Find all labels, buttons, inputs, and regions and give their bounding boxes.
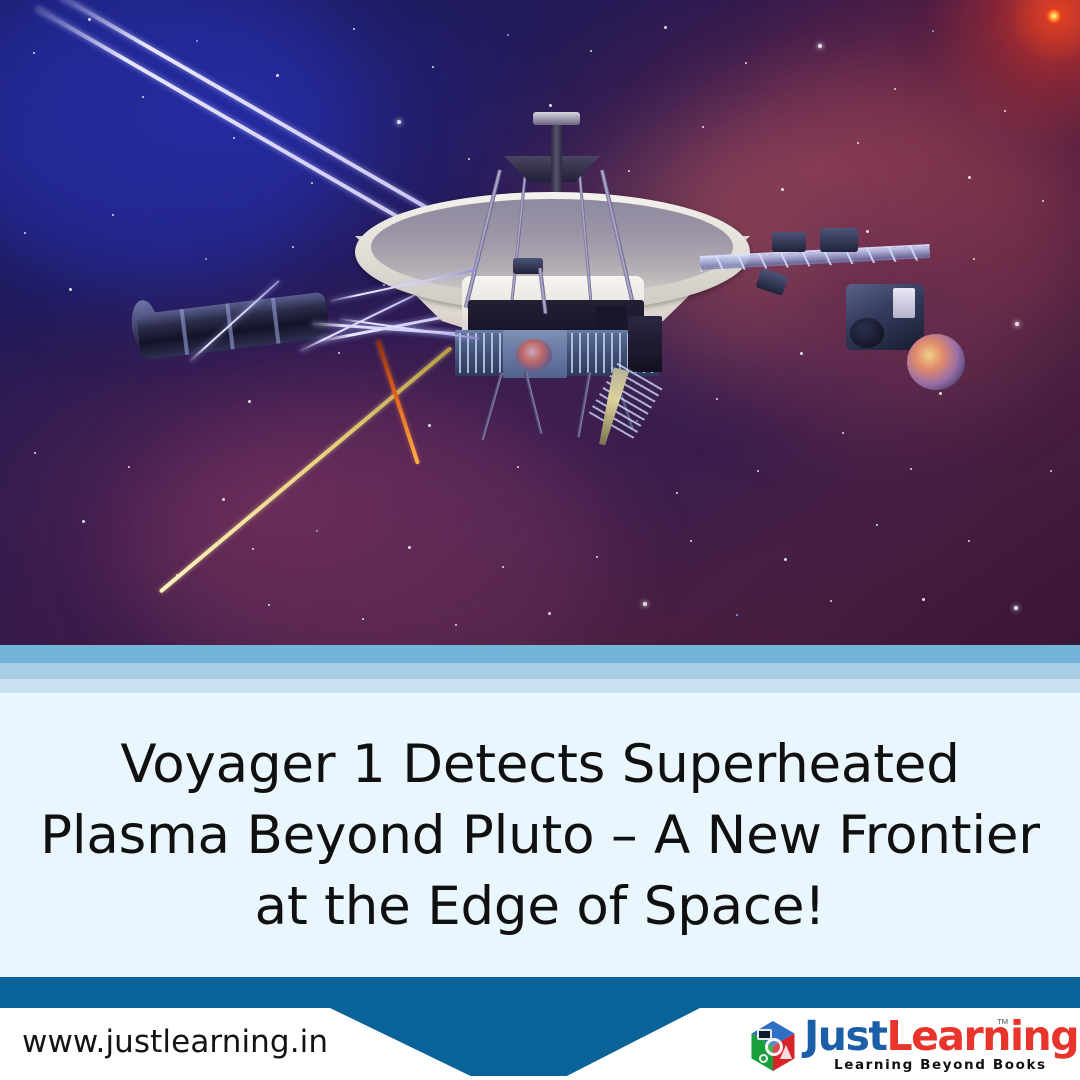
hex-triangle-glyph bbox=[780, 1045, 792, 1059]
iridescent-sensor-ball bbox=[907, 334, 965, 390]
science-instrument-b bbox=[820, 228, 858, 252]
lower-antenna-right bbox=[577, 372, 591, 438]
golden-antenna-boom bbox=[159, 346, 453, 593]
lower-antenna-left bbox=[481, 372, 503, 440]
website-url[interactable]: www.justlearning.in bbox=[22, 1024, 328, 1060]
bus-module-right bbox=[628, 316, 662, 372]
accent-band-3 bbox=[0, 679, 1080, 693]
headline-line-2: Plasma Beyond Pluto – A New Frontier bbox=[35, 800, 1045, 871]
logo-hexagon-icon bbox=[748, 1021, 798, 1071]
instrument-window bbox=[893, 288, 915, 318]
justlearning-logo[interactable]: JustLearning ™ Learning Beyond Books bbox=[748, 1018, 1060, 1074]
headline-section: Voyager 1 Detects Superheated Plasma Bey… bbox=[0, 693, 1080, 977]
page-title: Voyager 1 Detects Superheated Plasma Bey… bbox=[35, 729, 1045, 942]
footer-chevron-shape bbox=[330, 1008, 700, 1076]
voyager-spacecraft bbox=[0, 0, 1080, 645]
lower-antenna-left2 bbox=[524, 371, 542, 434]
bus-module-small bbox=[596, 306, 626, 328]
accent-band-2 bbox=[0, 663, 1080, 679]
logo-word-learning: Learning bbox=[886, 1012, 1078, 1060]
logo-word-just: Just bbox=[804, 1012, 886, 1060]
antenna-feed-cap bbox=[533, 112, 580, 125]
science-instrument-a bbox=[772, 232, 806, 252]
headline-line-3: at the Edge of Space! bbox=[35, 871, 1045, 942]
hex-dot-glyph bbox=[759, 1054, 768, 1063]
antenna-feed-mast bbox=[551, 124, 562, 192]
camera-lens bbox=[850, 318, 884, 348]
logo-wordmark: JustLearning bbox=[804, 1016, 1078, 1057]
footer-blue-bar bbox=[0, 977, 1080, 1008]
accent-band-1 bbox=[0, 645, 1080, 663]
hero-space-image bbox=[0, 0, 1080, 645]
logo-tagline: Learning Beyond Books bbox=[834, 1057, 1047, 1073]
science-instrument-c bbox=[756, 268, 789, 296]
headline-line-1: Voyager 1 Detects Superheated bbox=[35, 729, 1045, 800]
social-post-poster: Voyager 1 Detects Superheated Plasma Bey… bbox=[0, 0, 1080, 1080]
golden-record-disc bbox=[516, 339, 552, 371]
trademark-symbol: ™ bbox=[996, 1016, 1009, 1031]
